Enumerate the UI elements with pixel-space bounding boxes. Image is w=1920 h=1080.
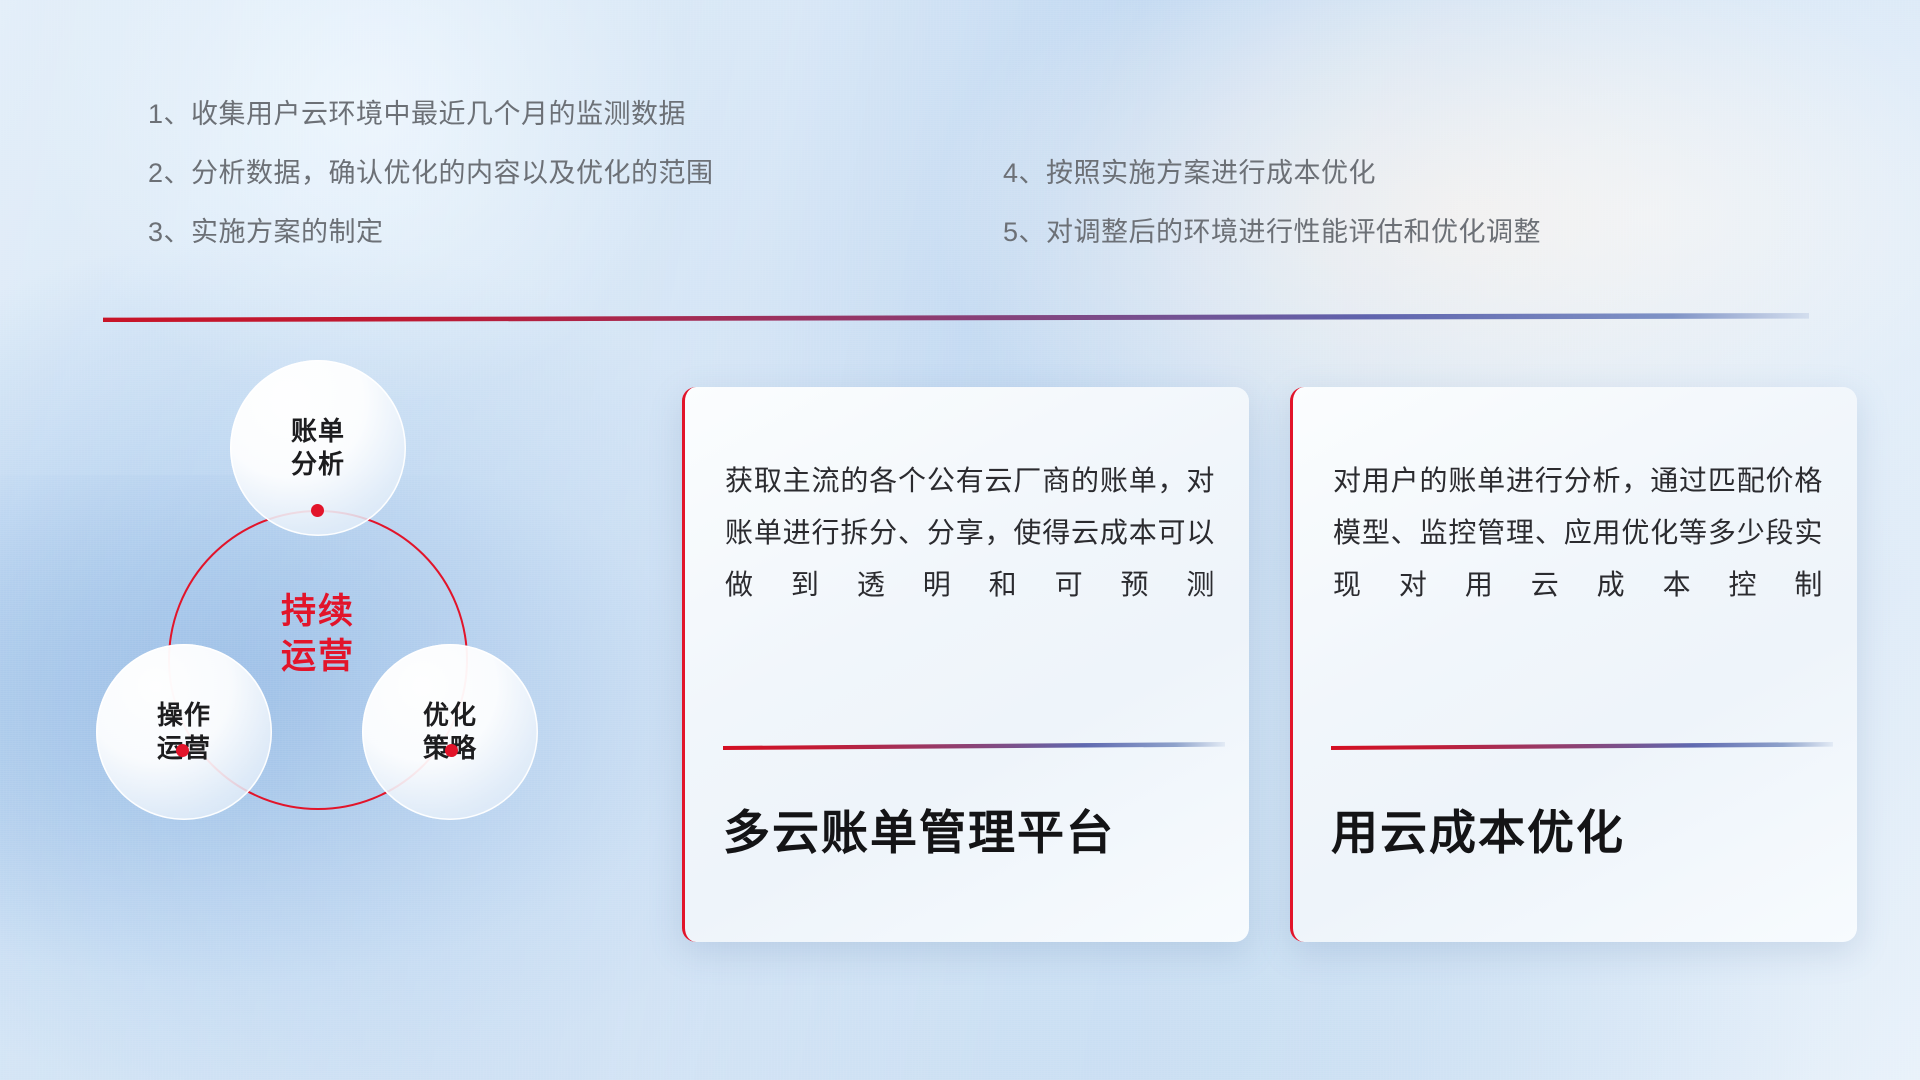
bubble-label-line1: 账单 [291, 415, 345, 448]
connector-dot-right [445, 744, 458, 757]
venn-bubble-optimization-strategy[interactable]: 优化 策略 [362, 644, 538, 820]
card-body-text: 获取主流的各个公有云厂商的账单，对账单进行拆分、分享，使得云成本可以做到透明和可… [725, 455, 1215, 611]
bubble-label-line1: 优化 [423, 699, 477, 732]
venn-diagram: 持续 运营 账单 分析 操作 运营 优化 策略 [96, 360, 636, 930]
slide-canvas: 1、收集用户云环境中最近几个月的监测数据 2、分析数据，确认优化的内容以及优化的… [0, 0, 1920, 1080]
step-item: 1、收集用户云环境中最近几个月的监测数据 [148, 101, 714, 128]
step-item: 2、分析数据，确认优化的内容以及优化的范围 [148, 160, 714, 187]
card-divider [1331, 742, 1833, 750]
step-item: 3、实施方案的制定 [148, 219, 714, 246]
connector-dot-left [176, 744, 189, 757]
card-title: 多云账单管理平台 [723, 805, 1225, 861]
bubble-label-line1: 操作 [157, 699, 211, 732]
feature-card-cloud-cost-optimization[interactable]: 对用户的账单进行分析，通过匹配价格模型、监控管理、应用优化等多少段实现对用云成本… [1290, 387, 1857, 942]
steps-right-column: 4、按照实施方案进行成本优化 5、对调整后的环境进行性能评估和优化调整 [1003, 160, 1541, 246]
card-body-text: 对用户的账单进行分析，通过匹配价格模型、监控管理、应用优化等多少段实现对用云成本… [1333, 455, 1823, 611]
connector-dot-top [311, 504, 324, 517]
feature-card-multicloud-billing[interactable]: 获取主流的各个公有云厂商的账单，对账单进行拆分、分享，使得云成本可以做到透明和可… [682, 387, 1249, 942]
center-label-line1: 持续 [168, 590, 468, 635]
bubble-label-line2: 分析 [291, 448, 345, 481]
venn-bubble-operations[interactable]: 操作 运营 [96, 644, 272, 820]
step-item: 4、按照实施方案进行成本优化 [1003, 160, 1541, 187]
card-title: 用云成本优化 [1331, 805, 1833, 861]
steps-left-column: 1、收集用户云环境中最近几个月的监测数据 2、分析数据，确认优化的内容以及优化的… [148, 101, 714, 246]
step-item: 5、对调整后的环境进行性能评估和优化调整 [1003, 219, 1541, 246]
card-divider [723, 742, 1225, 750]
